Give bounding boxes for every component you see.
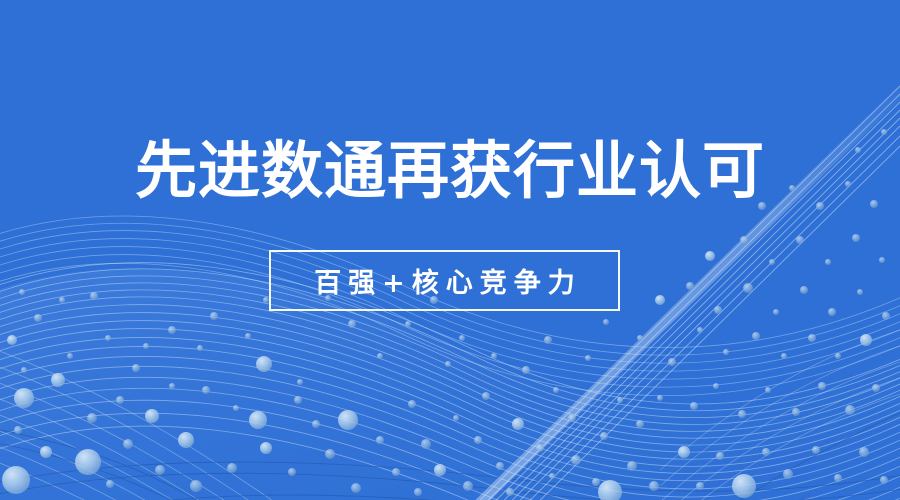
- page-title: 先进数通再获行业认可: [0, 134, 900, 208]
- promo-banner: 先进数通再获行业认可 百强+核心竞争力: [0, 0, 900, 500]
- subtitle-badge: 百强+核心竞争力: [269, 250, 620, 311]
- subtitle-text: 百强+核心竞争力: [307, 261, 582, 300]
